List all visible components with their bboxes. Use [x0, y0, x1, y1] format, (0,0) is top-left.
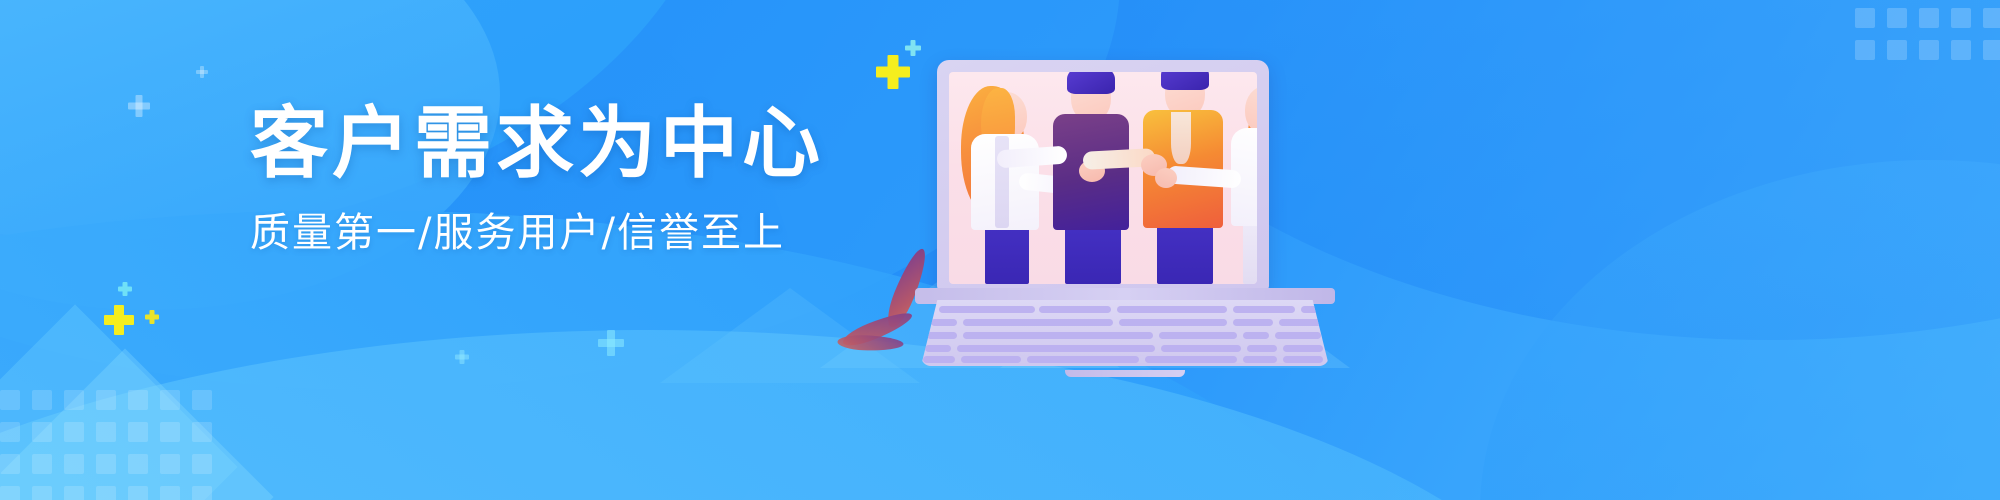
plus-white-top-icon	[196, 66, 208, 78]
keyboard-key	[1283, 345, 1323, 352]
bg-wave-right-low	[1480, 160, 2000, 500]
keyboard-key	[957, 345, 1155, 352]
keyboard-key	[1161, 345, 1241, 352]
keyboard-key	[1279, 319, 1321, 326]
promo-banner: 客户需求为中心 质量第一/服务用户/信誉至上	[0, 0, 2000, 500]
laptop-screen	[949, 72, 1257, 284]
keyboard-key	[1243, 332, 1269, 339]
keyboard-key	[939, 306, 1035, 313]
keyboard-key	[923, 356, 955, 363]
keyboard-key	[1119, 319, 1227, 326]
person-4-woman-right	[1221, 72, 1257, 284]
keyboard-key	[1233, 306, 1295, 313]
banner-headline: 客户需求为中心	[250, 105, 870, 183]
keyboard-key	[931, 319, 957, 326]
keyboard-key	[1283, 356, 1323, 363]
plus-cyan-bottom-icon	[118, 282, 132, 296]
keyboard-key	[1275, 332, 1321, 339]
plus-white-mid-icon	[128, 95, 150, 117]
keyboard-key	[927, 332, 957, 339]
headline-block: 客户需求为中心 质量第一/服务用户/信誉至上	[250, 105, 870, 253]
plus-yellow-large-icon	[876, 55, 910, 89]
keyboard-key	[1027, 356, 1139, 363]
banner-subline: 质量第一/服务用户/信誉至上	[250, 213, 870, 253]
person-1-woman-blonde	[955, 72, 1051, 284]
keyboard-key	[963, 319, 1113, 326]
keyboard-key	[1159, 332, 1237, 339]
keyboard-key	[1243, 356, 1277, 363]
keyboard-key	[963, 332, 1153, 339]
keyboard-key	[1233, 319, 1273, 326]
plus-cyan-small-icon	[905, 40, 921, 56]
laptop-keyboard	[921, 300, 1329, 366]
keyboard-key	[1117, 306, 1227, 313]
person-2-man-darkshirt	[1045, 72, 1137, 284]
plus-cyan-right-icon	[455, 350, 469, 364]
keyboard-key	[1301, 306, 1321, 313]
plus-cyan-center-icon	[598, 330, 624, 356]
plus-yellow-bottom-icon	[104, 305, 134, 335]
keyboard-key	[961, 356, 1021, 363]
laptop-lid	[937, 60, 1269, 290]
laptop-foot	[1065, 370, 1185, 377]
keyboard-key	[1145, 356, 1237, 363]
keyboard-key	[1247, 345, 1277, 352]
keyboard-key	[1039, 306, 1111, 313]
laptop-illustration	[915, 60, 1335, 345]
plus-yellow-tiny-icon	[145, 310, 159, 324]
keyboard-key	[925, 345, 951, 352]
